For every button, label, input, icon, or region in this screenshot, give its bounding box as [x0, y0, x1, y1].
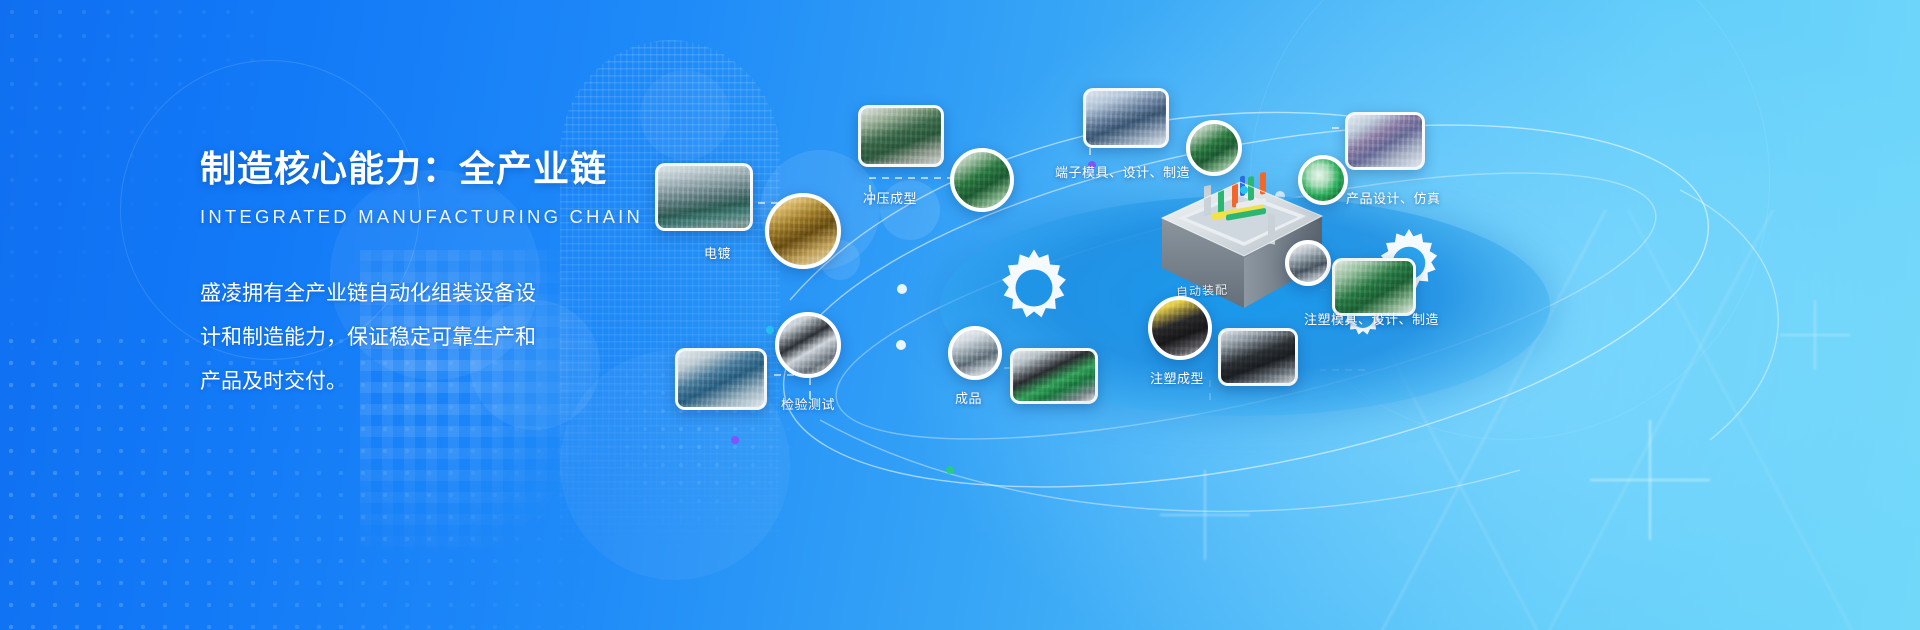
stamping-photo[interactable]	[858, 105, 944, 167]
inspection-photo[interactable]	[675, 348, 767, 410]
description-line-3: 产品及时交付。	[200, 360, 560, 404]
injection-line-photo[interactable]	[1218, 328, 1298, 386]
product-design-photo[interactable]	[1345, 112, 1425, 170]
hero-banner: 制造核心能力：全产业链 INTEGRATED MANUFACTURING CHA…	[0, 0, 1920, 630]
assembly-line-photo[interactable]	[1010, 348, 1098, 404]
hero-description: 盛凌拥有全产业链自动化组装设备设 计和制造能力，保证稳定可靠生产和 产品及时交付…	[200, 272, 560, 404]
terminal-mold-office-photo[interactable]	[1083, 88, 1169, 148]
injection-mold-photo[interactable]	[1332, 258, 1416, 316]
plating-photo[interactable]	[655, 163, 753, 231]
page-subtitle: INTEGRATED MANUFACTURING CHAIN	[200, 206, 620, 228]
terminal-reel-photo[interactable]	[765, 193, 841, 269]
hero-copy-block: 制造核心能力：全产业链 INTEGRATED MANUFACTURING CHA…	[200, 140, 620, 404]
terminal-mold-label: 端子模具、设计、制造	[1055, 162, 1190, 181]
stamping-machine-photo[interactable]	[950, 148, 1014, 212]
injection-mold-label: 注塑模具、设计、制造	[1304, 309, 1439, 328]
injection-mold-tool-photo[interactable]	[1285, 240, 1331, 286]
stamping-label: 冲压成型	[863, 188, 917, 207]
finished-goods-label: 成品	[955, 388, 982, 407]
page-title: 制造核心能力：全产业链	[200, 140, 620, 192]
gear-large-left	[992, 246, 1076, 330]
inspection-label: 检验测试	[781, 394, 835, 413]
manufacturing-chain-diagram: 自动装配 电镀 冲压成型	[620, 0, 1920, 630]
description-line-2: 计和制造能力，保证稳定可靠生产和	[200, 316, 560, 360]
product-design-3d-icon[interactable]	[1298, 155, 1348, 205]
finished-goods-photo[interactable]	[948, 326, 1002, 380]
product-design-label: 产品设计、仿真	[1346, 188, 1441, 207]
plating-label: 电镀	[704, 243, 731, 262]
injection-machine-photo[interactable]	[1148, 296, 1212, 360]
injection-forming-label: 注塑成型	[1150, 368, 1204, 387]
terminal-mold-part-photo[interactable]	[1186, 120, 1242, 176]
inspection-equipment-photo[interactable]	[775, 312, 841, 378]
description-line-1: 盛凌拥有全产业链自动化组装设备设	[200, 272, 560, 316]
